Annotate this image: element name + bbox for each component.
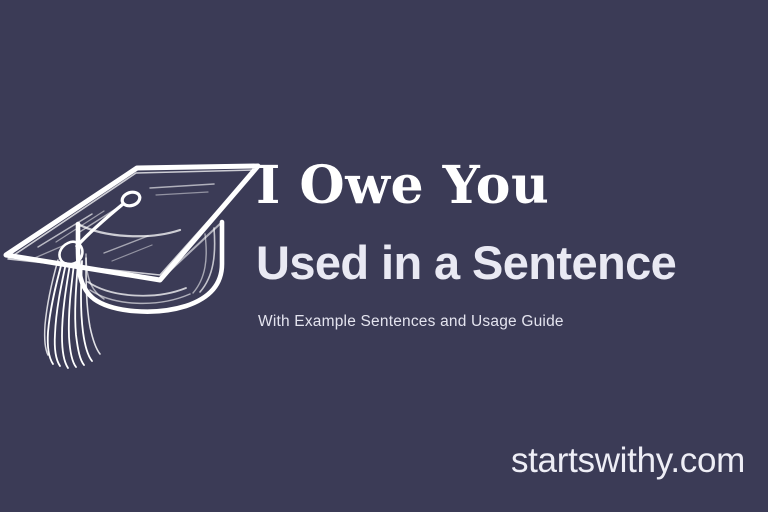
page-title: I Owe You (256, 158, 764, 214)
page-tagline: With Example Sentences and Usage Guide (258, 312, 764, 332)
graduation-cap-icon (0, 142, 272, 374)
text-block: I Owe You Used in a Sentence With Exampl… (256, 158, 764, 332)
site-brand: startswithy.com (511, 440, 745, 482)
page-subtitle: Used in a Sentence (256, 236, 764, 290)
banner: I Owe You Used in a Sentence With Exampl… (0, 0, 768, 512)
